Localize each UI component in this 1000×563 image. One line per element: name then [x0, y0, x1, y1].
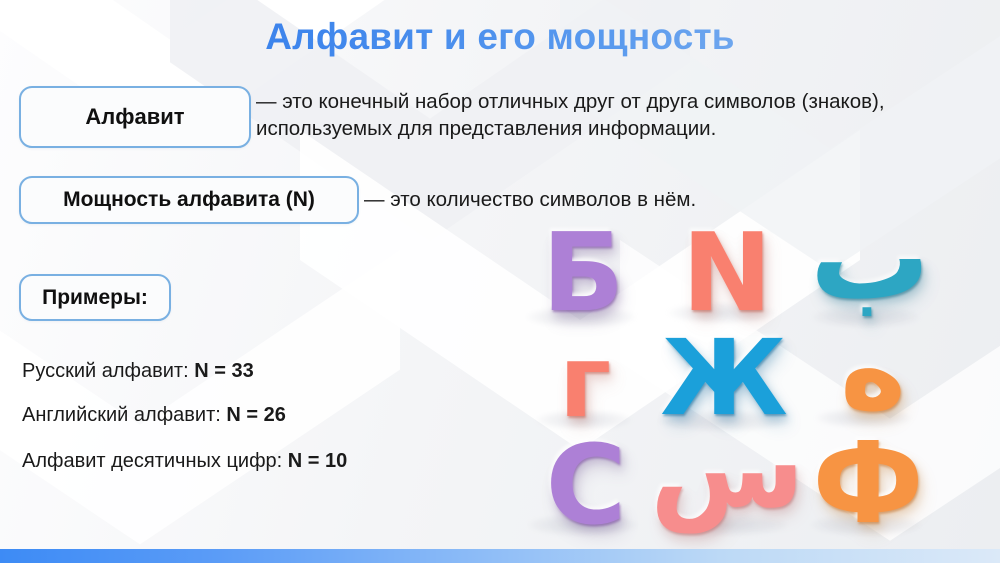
letter-glyph-be: Б	[518, 220, 648, 328]
example-label: Алфавит десятичных цифр:	[22, 450, 288, 472]
letter-glyph-arabic-beh: ب	[800, 198, 940, 318]
example-value: N = 26	[226, 404, 285, 426]
example-value: N = 33	[194, 360, 253, 382]
letter-glyph-es: С	[520, 430, 652, 540]
term-box-examples: Примеры:	[19, 274, 171, 321]
example-row-digits: Алфавит десятичных цифр: N = 10	[22, 450, 347, 473]
letter-glyph-arabic-seen: س	[650, 412, 800, 524]
page-title: Алфавит и его мощность	[0, 16, 1000, 58]
example-value: N = 10	[288, 450, 347, 472]
letter-glyph-ghe: г	[522, 332, 648, 432]
definition-text-alphabet: — это конечный набор отличных друг от др…	[256, 88, 996, 142]
bottom-accent-bar	[0, 549, 1000, 563]
term-box-alphabet: Алфавит	[19, 86, 251, 148]
example-label: Английский алфавит:	[22, 404, 226, 426]
term-label-alphabet-power: Мощность алфавита (N)	[63, 188, 315, 212]
examples-heading: Примеры:	[42, 286, 148, 310]
letter-glyph-arabic-heh: ه	[808, 314, 938, 426]
example-label: Русский алфавит:	[22, 360, 194, 382]
letter-glyph-n: N	[662, 220, 792, 328]
term-box-alphabet-power: Мощность алфавита (N)	[19, 176, 359, 224]
example-row-english: Английский алфавит: N = 26	[22, 404, 286, 427]
term-label-alphabet: Алфавит	[85, 104, 184, 130]
slide-canvas: Алфавит и его мощность Алфавит — это кон…	[0, 0, 1000, 563]
letter-glyph-ef: Ф	[800, 428, 936, 540]
3d-letters-illustration: Б N ب г Ж ه С س Ф	[500, 214, 1000, 549]
example-row-russian: Русский алфавит: N = 33	[22, 360, 254, 383]
